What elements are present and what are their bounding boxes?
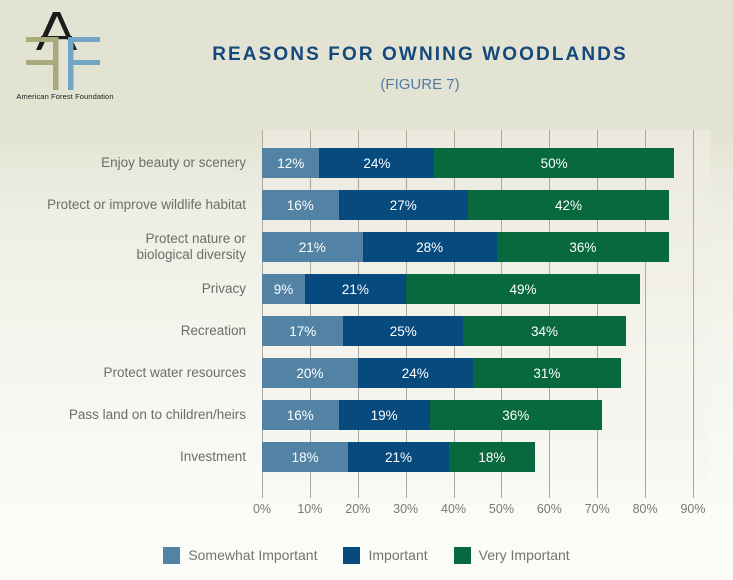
x-axis-tick-mark [454,490,455,498]
bar-segment-value-label: 16% [287,198,314,213]
y-axis-category-label: Enjoy beauty or scenery [0,155,246,171]
x-axis-tick-label: 10% [290,502,330,516]
bar-row: 17%25%34% [262,316,626,346]
x-axis-tick-mark [597,490,598,498]
x-axis-tick-mark [406,490,407,498]
y-axis-category-line: Protect nature or [0,231,246,247]
logo-mark [8,6,118,96]
bar-segment-very-important: 49% [406,274,641,304]
y-axis-category-line: biological diversity [0,247,246,263]
bar-segment-value-label: 9% [274,282,294,297]
x-axis-tick-label: 50% [481,502,521,516]
legend-label: Very Important [479,547,570,563]
bar-segment-value-label: 12% [277,156,304,171]
legend-item[interactable]: Somewhat Important [163,547,317,564]
bar-segment-somewhat-important: 16% [262,190,339,220]
bar-segment-value-label: 18% [478,450,505,465]
bar-segment-value-label: 16% [287,408,314,423]
bar-segment-value-label: 19% [371,408,398,423]
bar-row: 16%19%36% [262,400,602,430]
bar-segment-very-important: 34% [463,316,626,346]
gridline-60pct [549,130,550,490]
x-axis-tick-label: 90% [673,502,713,516]
y-axis-category-label: Investment [0,449,246,465]
x-axis-tick-mark [358,490,359,498]
bar-segment-value-label: 25% [390,324,417,339]
legend-swatch-icon [454,547,471,564]
logo-wordmark: American Forest Foundation [12,92,118,101]
bar-segment-value-label: 49% [509,282,536,297]
gridline-90pct [693,130,694,490]
x-axis-tick-mark [501,490,502,498]
y-axis-category-label: Recreation [0,323,246,339]
y-axis-category-label: Protect or improve wildlife habitat [0,197,246,213]
bar-segment-somewhat-important: 18% [262,442,348,472]
bar-segment-value-label: 34% [531,324,558,339]
bar-segment-value-label: 21% [385,450,412,465]
page-title: REASONS FOR OWNING WOODLANDS [120,44,720,66]
y-axis-category-line: Protect or improve wildlife habitat [0,197,246,213]
bar-segment-value-label: 27% [390,198,417,213]
bar-segment-value-label: 21% [299,240,326,255]
x-axis-tick-label: 70% [577,502,617,516]
bar-segment-value-label: 50% [541,156,568,171]
y-axis-category-label: Pass land on to children/heirs [0,407,246,423]
bar-segment-important: 24% [319,148,434,178]
x-axis-tick-label: 0% [242,502,282,516]
x-axis-tick-mark [310,490,311,498]
x-axis-tick-mark [693,490,694,498]
bar-row: 9%21%49% [262,274,640,304]
bar-segment-very-important: 36% [497,232,669,262]
legend-swatch-icon [163,547,180,564]
y-axis-category-line: Protect water resources [0,365,246,381]
y-axis-category-line: Enjoy beauty or scenery [0,155,246,171]
y-axis-category-label: Privacy [0,281,246,297]
bar-segment-value-label: 36% [502,408,529,423]
gridline-50pct [501,130,502,490]
x-axis-tick-mark [645,490,646,498]
bar-segment-very-important: 31% [473,358,621,388]
bar-segment-important: 24% [358,358,473,388]
gridline-0pct [262,130,263,490]
american-forest-foundation-logo: American Forest Foundation [8,6,118,106]
legend-label: Somewhat Important [188,547,317,563]
gridline-70pct [597,130,598,490]
y-axis-category-label: Protect water resources [0,365,246,381]
gridline-80pct [645,130,646,490]
bar-segment-very-important: 50% [434,148,673,178]
bar-segment-value-label: 42% [555,198,582,213]
bar-segment-important: 21% [305,274,406,304]
chart-legend: Somewhat ImportantImportantVery Importan… [0,540,733,570]
y-axis-category-line: Pass land on to children/heirs [0,407,246,423]
bar-segment-very-important: 42% [468,190,669,220]
gridline-20pct [358,130,359,490]
legend-item[interactable]: Important [343,547,427,564]
bar-row: 21%28%36% [262,232,669,262]
x-axis-tick-label: 40% [434,502,474,516]
bar-segment-important: 21% [348,442,449,472]
legend-swatch-icon [343,547,360,564]
bar-segment-important: 25% [343,316,463,346]
plot-background [262,130,710,490]
bar-row: 12%24%50% [262,148,674,178]
bar-segment-very-important: 36% [430,400,602,430]
legend-label: Important [368,547,427,563]
bar-segment-important: 27% [339,190,468,220]
bar-segment-value-label: 24% [363,156,390,171]
x-axis-tick-label: 80% [625,502,665,516]
y-axis-category-line: Recreation [0,323,246,339]
bar-segment-somewhat-important: 17% [262,316,343,346]
bar-segment-value-label: 18% [292,450,319,465]
bar-segment-somewhat-important: 16% [262,400,339,430]
bar-segment-value-label: 24% [402,366,429,381]
bar-segment-value-label: 21% [342,282,369,297]
bar-row: 16%27%42% [262,190,669,220]
plot-region: 12%24%50%16%27%42%21%28%36%9%21%49%17%25… [262,130,710,490]
bar-segment-value-label: 17% [289,324,316,339]
x-axis-tick-label: 30% [386,502,426,516]
bar-segment-somewhat-important: 20% [262,358,358,388]
x-axis-tick-label: 20% [338,502,378,516]
bar-segment-somewhat-important: 12% [262,148,319,178]
x-axis-tick-mark [549,490,550,498]
gridline-10pct [310,130,311,490]
bar-segment-value-label: 36% [569,240,596,255]
bar-segment-important: 19% [339,400,430,430]
bar-row: 18%21%18% [262,442,535,472]
bar-segment-value-label: 28% [416,240,443,255]
bar-segment-somewhat-important: 9% [262,274,305,304]
legend-item[interactable]: Very Important [454,547,570,564]
bar-segment-very-important: 18% [449,442,535,472]
bar-row: 20%24%31% [262,358,621,388]
x-axis-tick-mark [262,490,263,498]
y-axis-category-label: Protect nature orbiological diversity [0,231,246,263]
bar-segment-value-label: 31% [533,366,560,381]
x-axis-tick-label: 60% [529,502,569,516]
y-axis-category-line: Privacy [0,281,246,297]
bar-segment-value-label: 20% [296,366,323,381]
bar-segment-somewhat-important: 21% [262,232,363,262]
gridline-40pct [454,130,455,490]
chart-area: Enjoy beauty or sceneryProtect or improv… [0,130,733,520]
gridline-30pct [406,130,407,490]
y-axis-category-line: Investment [0,449,246,465]
bar-segment-important: 28% [363,232,497,262]
page-subtitle: (FIGURE 7) [120,76,720,93]
